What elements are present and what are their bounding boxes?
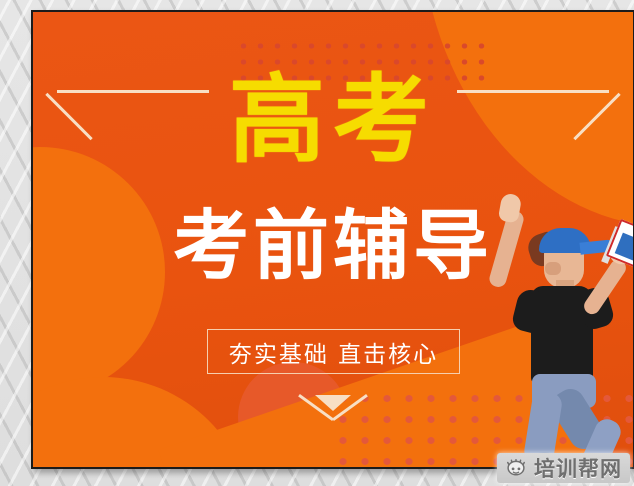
watermark-text: 培训帮网	[534, 453, 622, 483]
tagline-text: 夯实基础 直击核心	[229, 335, 438, 369]
headline-primary: 高考	[33, 72, 633, 168]
tagline-box: 夯实基础 直击核心	[207, 329, 460, 374]
chevron-down-icon	[301, 393, 365, 425]
page-background: 高考 考前辅导 夯实基础 直击核心	[0, 0, 634, 486]
jumping-student-illustration	[482, 196, 633, 467]
watermark: 培训帮网	[497, 453, 630, 483]
sun-smiley-icon	[505, 457, 527, 479]
banner-canvas: 高考 考前辅导 夯实基础 直击核心	[33, 12, 633, 467]
banner-frame: 高考 考前辅导 夯实基础 直击核心	[31, 10, 634, 469]
student-face-shade	[545, 262, 561, 275]
